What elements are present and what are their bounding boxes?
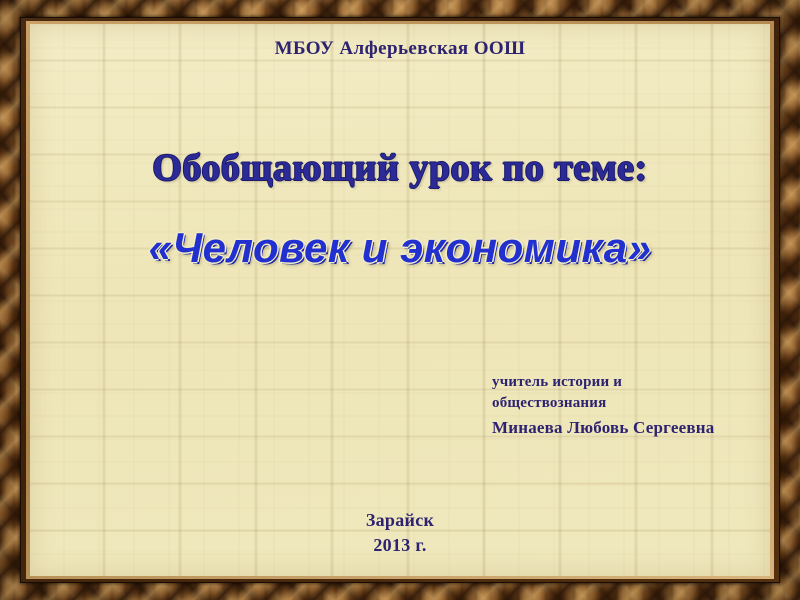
author-role-line-2: обществознания (492, 393, 714, 414)
presentation-slide: МБОУ Алферьевская ООШ Обобщающий урок по… (0, 0, 800, 600)
slide-paper-canvas: МБОУ Алферьевская ООШ Обобщающий урок по… (30, 24, 770, 576)
page-title: Обобщающий урок по теме: (30, 146, 770, 190)
school-name: МБОУ Алферьевская ООШ (30, 38, 770, 60)
footer-year: 2013 г. (30, 533, 770, 558)
lesson-topic-subtitle: «Человек и экономика» (30, 224, 770, 272)
author-block: учитель истории и обществознания Минаева… (492, 372, 714, 440)
footer-block: Зарайск 2013 г. (30, 508, 770, 558)
footer-place: Зарайск (30, 508, 770, 533)
author-role-line-1: учитель истории и (492, 372, 714, 393)
author-name: Минаева Любовь Сергеевна (492, 416, 714, 440)
